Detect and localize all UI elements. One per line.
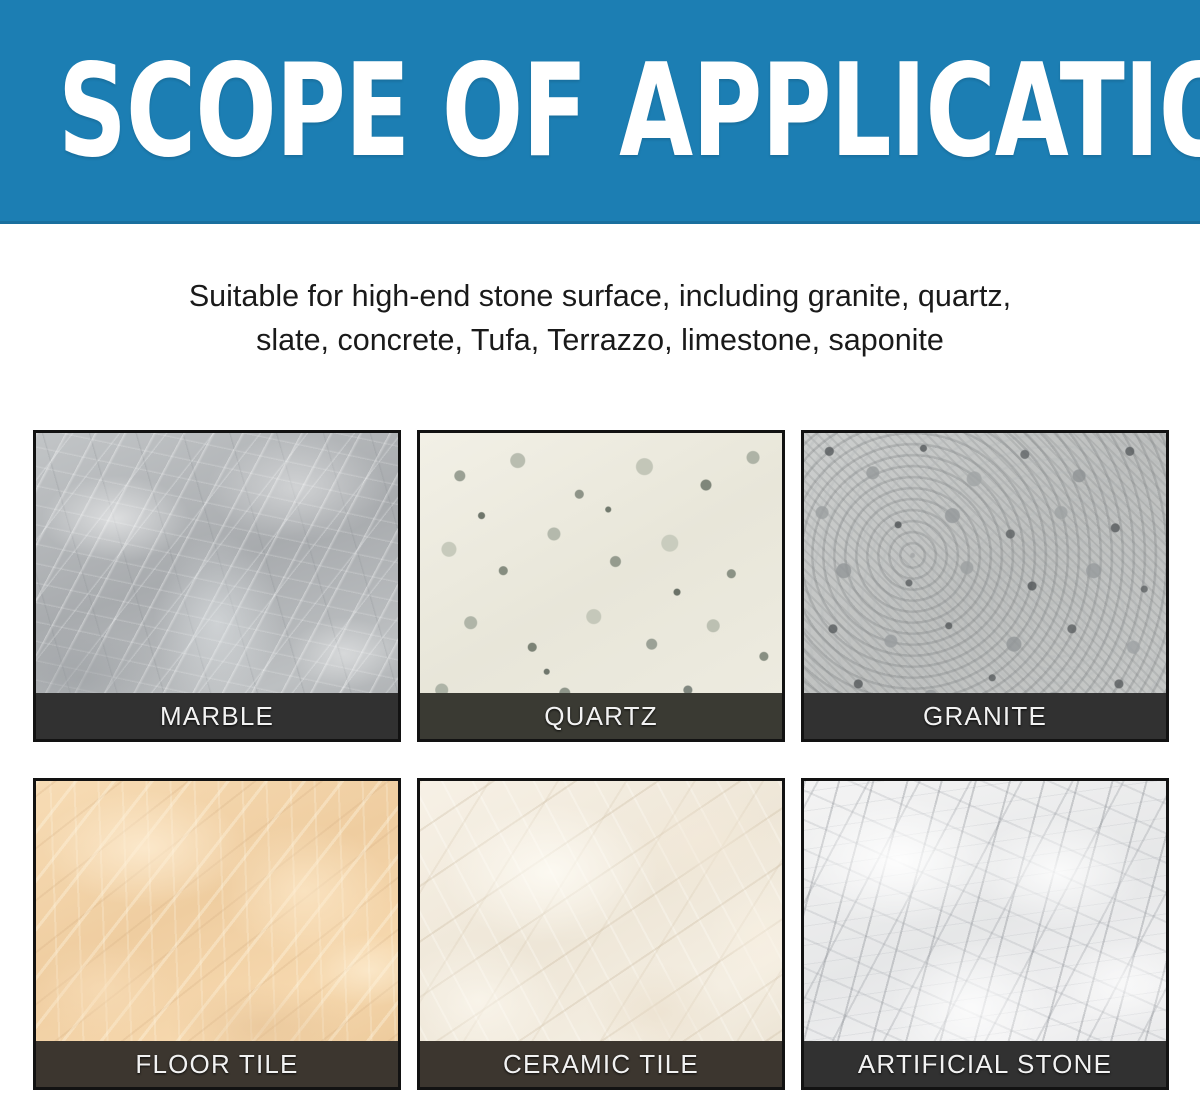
- stone-tile-floor-tile: FLOOR TILE: [33, 778, 401, 1090]
- stone-tile-label: GRANITE: [804, 693, 1166, 739]
- stone-tile-label: QUARTZ: [420, 693, 782, 739]
- subtitle-line-2: slate, concrete, Tufa, Terrazzo, limesto…: [50, 318, 1150, 362]
- scope-of-application-page: SCOPE OF APPLICATION Suitable for high-e…: [0, 0, 1200, 1096]
- stone-tile-granite: GRANITE: [801, 430, 1169, 742]
- page-title: SCOPE OF APPLICATION: [58, 52, 979, 172]
- stone-tile-ceramic-tile: CERAMIC TILE: [417, 778, 785, 1090]
- stone-tile-label: FLOOR TILE: [36, 1041, 398, 1087]
- stone-tile-artificial-stone: ARTIFICIAL STONE: [801, 778, 1169, 1090]
- stone-tile-marble: MARBLE: [33, 430, 401, 742]
- stone-surface-gallery: MARBLE QUARTZ GRANITE FLOOR TILE CERAMIC…: [33, 430, 1169, 1092]
- stone-tile-label: ARTIFICIAL STONE: [804, 1041, 1166, 1087]
- stone-tile-label: CERAMIC TILE: [420, 1041, 782, 1087]
- subtitle-text: Suitable for high-end stone surface, inc…: [50, 274, 1150, 362]
- stone-tile-quartz: QUARTZ: [417, 430, 785, 742]
- header-banner: SCOPE OF APPLICATION: [0, 0, 1200, 224]
- subtitle-line-1: Suitable for high-end stone surface, inc…: [50, 274, 1150, 318]
- stone-tile-label: MARBLE: [36, 693, 398, 739]
